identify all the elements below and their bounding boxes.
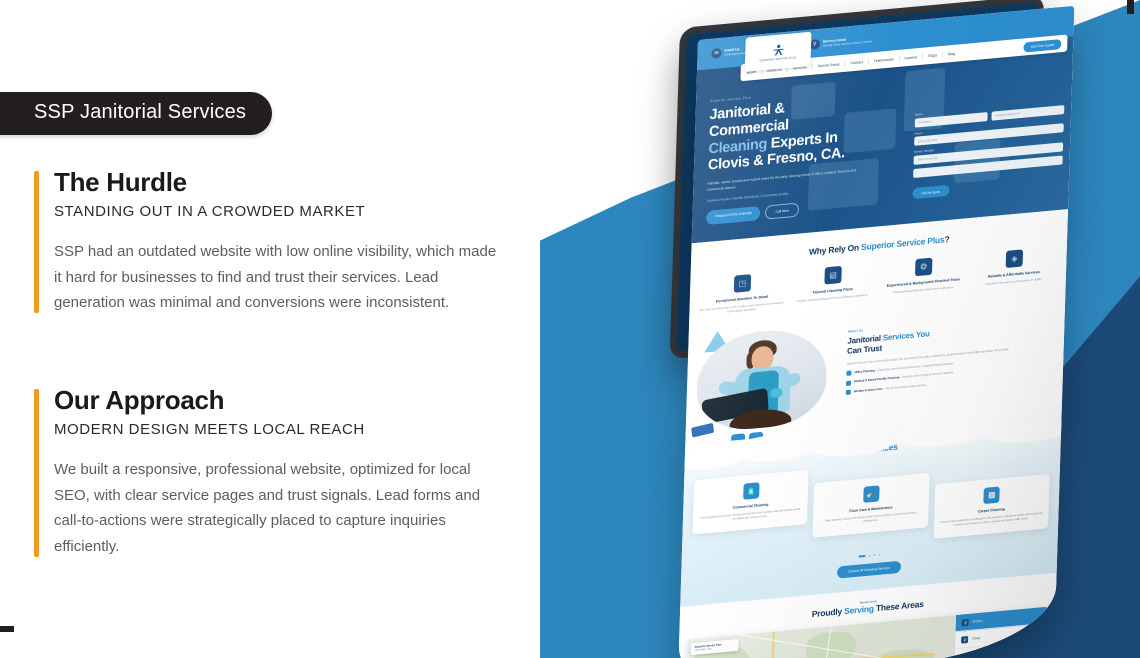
block-subtitle: STANDING OUT IN A CROWDED MARKET [54, 203, 504, 220]
bullet-title: Window & Glass Care [854, 386, 883, 393]
carpet-icon: ▩ [984, 486, 1000, 504]
nav-item-faqs[interactable]: FAQs [928, 53, 937, 58]
location-icon: ⚲ [962, 619, 969, 627]
location-label: Clovis [972, 636, 980, 641]
photo-accent-bar [691, 423, 714, 438]
about-text: About Us Janitorial Services You Can Tru… [845, 305, 1055, 421]
why-card[interactable]: ❂ Experienced & Background-Checked Team … [880, 255, 966, 301]
mop-icon: 🧹 [863, 485, 879, 503]
scrolling-webpage: SUPERIOR SERVICE PLUS ✉ Email Us info@su… [678, 6, 1075, 658]
nav-divider [922, 53, 923, 59]
location-label: Fresno [973, 619, 982, 624]
bullet-icon [846, 390, 851, 395]
website-mockup: SUPERIOR SERVICE PLUS ✉ Email Us info@su… [520, 0, 1140, 658]
why-card[interactable]: ▤ Tailored Cleaning Plans Flexible sched… [790, 263, 876, 309]
location-icon: ⚲ [961, 653, 968, 658]
bullet-title: Office Cleaning [854, 368, 875, 374]
block-title: The Hurdle [54, 168, 504, 198]
corner-mark-bottom-left [0, 626, 14, 632]
nav-divider [811, 63, 812, 69]
nav-divider [898, 55, 899, 61]
site-logo[interactable]: SUPERIOR SERVICE PLUS [745, 32, 812, 72]
bullet-icon [846, 380, 851, 385]
location-label: Selma [972, 653, 981, 658]
why-heading-post: ? [944, 234, 949, 245]
logo-mark-icon [771, 43, 784, 57]
corner-mark-top-right [1127, 0, 1134, 14]
services-cta-button[interactable]: Explore All Cleaning Services [837, 561, 901, 579]
team-icon: ❂ [915, 258, 932, 277]
project-badge-label: SSP Janitorial Services [34, 101, 246, 123]
areas-heading-highlight: Serving [844, 604, 874, 617]
nav-cta-button[interactable]: Get Free Quote [1024, 39, 1062, 52]
about-heading-highlight: Services You [883, 329, 930, 342]
about-heading-post: Can Trust [847, 343, 882, 355]
nav-item-service-areas[interactable]: Service Areas [817, 62, 839, 68]
nav-item-testimonials[interactable]: Testimonials [874, 57, 894, 63]
nav-divider [844, 60, 845, 66]
about-photo-wrap [696, 324, 840, 434]
logo-text: SUPERIOR SERVICE PLUS [759, 56, 796, 62]
topbar-contact-areas[interactable]: ⚲ Service Areas Serving Clovis and the F… [810, 34, 872, 50]
left-content-panel: SSP Janitorial Services The Hurdle STAND… [0, 0, 540, 658]
why-card[interactable]: ◈ Reliable & Affordable Services Consist… [971, 246, 1057, 292]
spray-bottle-icon: 🧴 [743, 482, 759, 500]
shield-icon: ◈ [1006, 249, 1023, 268]
bullet-desc: Streak-free clarity inside and out. [886, 382, 927, 390]
service-card[interactable]: 🧴 Commercial Cleaning Routine janitorial… [692, 470, 809, 535]
block-body: We built a responsive, professional webs… [54, 457, 504, 560]
nav-divider [942, 51, 943, 57]
calendar-icon: ▤ [824, 266, 841, 285]
detail-icon: ◳ [734, 274, 751, 293]
bullet-title: Medical & Dental Facility Cleaning [854, 375, 899, 383]
project-badge: SSP Janitorial Services [0, 92, 272, 135]
areas-heading-pre: Proudly [812, 606, 845, 619]
nav-item-careers[interactable]: Careers [904, 55, 917, 60]
hero-quote-form[interactable]: Name Full Name you@company.com Phone (55… [912, 99, 1064, 200]
block-subtitle: MODERN DESIGN MEETS LOCAL REACH [54, 421, 504, 438]
block-body: SSP had an outdated website with low onl… [54, 239, 504, 316]
location-icon: ⚲ [961, 636, 968, 644]
why-heading-pre: Why Rely On [809, 242, 861, 257]
service-card[interactable]: 🧹 Floor Care & Maintenance Deep strippin… [813, 473, 930, 538]
nav-item-blog[interactable]: Blog [948, 51, 955, 56]
nav-divider [868, 58, 869, 64]
why-card[interactable]: ◳ Exceptional Attention To Detail We cle… [699, 271, 785, 317]
content-block-approach: Our Approach MODERN DESIGN MEETS LOCAL R… [34, 386, 504, 560]
bullet-desc: Sanitize and in hygiene focused cleaning… [902, 370, 953, 379]
content-block-hurdle: The Hurdle STANDING OUT IN A CROWDED MAR… [34, 168, 504, 316]
block-title: Our Approach [54, 386, 504, 416]
service-card[interactable]: ▩ Carpet Cleaning Remove deep-seated dir… [933, 474, 1050, 539]
bullet-icon [846, 371, 851, 376]
envelope-icon: ✉ [711, 48, 721, 59]
nav-item-contact[interactable]: Contact [850, 60, 862, 65]
service-area-list: ⚲Fresno ⚲Clovis ⚲Selma ⚲Sanger ⚲Kingsbur… [953, 607, 1048, 658]
why-heading-highlight: Superior Service Plus [861, 234, 945, 252]
